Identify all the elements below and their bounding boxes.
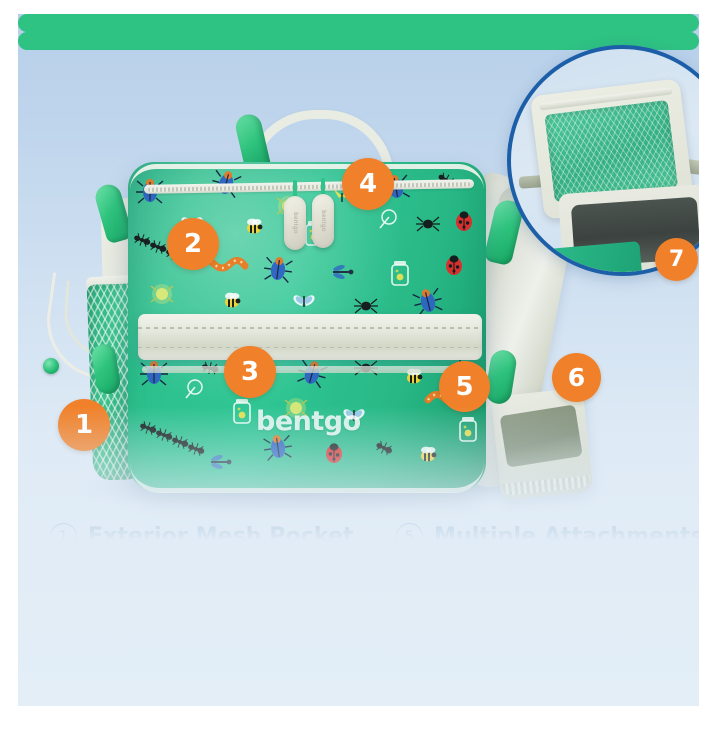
callout-badge-6-number: 6 xyxy=(568,363,585,392)
cord-bead-icon xyxy=(43,358,59,374)
callout-badge-2[interactable]: 2 xyxy=(167,218,219,270)
callout-badge-5[interactable]: 5 xyxy=(439,361,490,412)
legend-label-2: Water-Resistant Fabric xyxy=(88,569,375,594)
zipper-pull-right-text: bentgo xyxy=(320,210,326,232)
d-ring-left xyxy=(18,14,699,32)
callout-badge-7-number: 7 xyxy=(669,247,684,272)
legend-label-3: Padded Carrying Handle xyxy=(88,614,391,639)
legend-column-right: 5 Multiple Attachments 6 Adjustable Stra… xyxy=(396,514,699,649)
callout-badge-3-number: 3 xyxy=(241,357,259,387)
legend-label-5: Multiple Attachments xyxy=(434,524,699,549)
strap-folded-end xyxy=(491,387,593,500)
legend-number-2: 2 xyxy=(50,568,77,595)
legend-item-1: 1 Exterior Mesh Pocket xyxy=(50,514,391,559)
legend-label-1: Exterior Mesh Pocket xyxy=(88,524,354,549)
callout-badge-1[interactable]: 1 xyxy=(58,399,110,451)
zipper-pull-right: bentgo xyxy=(312,194,334,248)
legend-number-4: 4 xyxy=(50,658,77,685)
legend-number-5: 5 xyxy=(396,523,423,550)
legend-label-6: Adjustable Strap xyxy=(434,569,644,594)
bottom-seam xyxy=(130,448,484,493)
callout-badge-2-number: 2 xyxy=(184,229,202,259)
zipper-pull-left: bentgo xyxy=(284,196,306,250)
bentgo-brand-mark: bentgo xyxy=(256,406,361,437)
callout-badge-4[interactable]: 4 xyxy=(342,158,394,210)
callout-badge-7[interactable]: 7 xyxy=(655,238,698,281)
legend-number-1: 1 xyxy=(50,523,77,550)
callout-badge-5-number: 5 xyxy=(455,372,473,402)
legend-item-6: 6 Adjustable Strap xyxy=(396,559,699,604)
legend-item-2: 2 Water-Resistant Fabric xyxy=(50,559,391,604)
legend-number-3: 3 xyxy=(50,613,77,640)
legend-label-4: Durable Zippers xyxy=(88,659,289,684)
padded-carrying-handle xyxy=(138,314,482,360)
legend-item-5: 5 Multiple Attachments xyxy=(396,514,699,559)
legend-number-6: 6 xyxy=(396,568,423,595)
background-panel: bentgo bentgo bentgo xyxy=(18,14,699,706)
legend-item-7: 7 Interior Pocket xyxy=(396,604,699,649)
product-shadow xyxy=(88,466,518,512)
callout-badge-6[interactable]: 6 xyxy=(552,353,601,402)
legend-number-7: 7 xyxy=(396,613,423,640)
legend-column-left: 1 Exterior Mesh Pocket 2 Water-Resistant… xyxy=(50,514,391,694)
callout-badge-1-number: 1 xyxy=(75,410,93,440)
infographic-sheet: bentgo bentgo bentgo xyxy=(0,0,720,735)
callout-badge-3[interactable]: 3 xyxy=(224,346,276,398)
callout-badge-4-number: 4 xyxy=(359,169,377,199)
zipper-pull-left-text: bentgo xyxy=(292,212,298,234)
legend-item-4: 4 Durable Zippers xyxy=(50,649,391,694)
legend-label-7: Interior Pocket xyxy=(434,614,621,639)
feature-legend: 1 Exterior Mesh Pocket 2 Water-Resistant… xyxy=(18,514,699,706)
lower-zipper-track xyxy=(142,366,474,373)
legend-item-3: 3 Padded Carrying Handle xyxy=(50,604,391,649)
